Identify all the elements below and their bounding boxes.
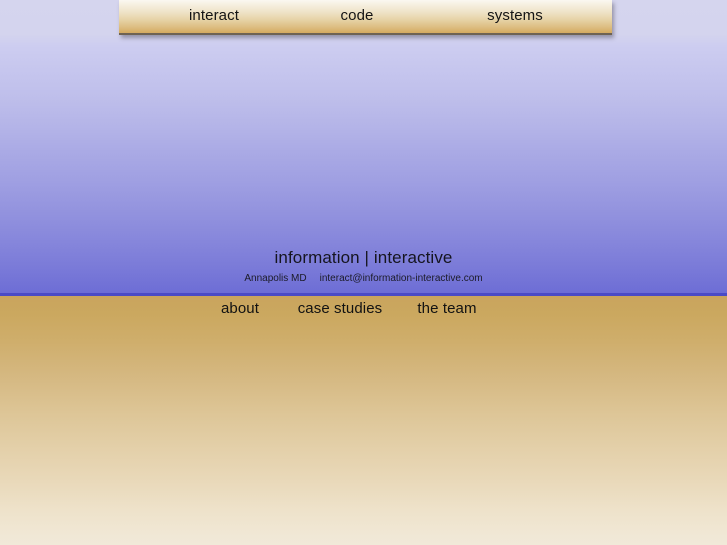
top-nav-bar: interact code systems	[119, 0, 612, 35]
contact-email[interactable]: interact@information-interactive.com	[320, 273, 483, 284]
top-nav-item-code[interactable]: code	[341, 7, 374, 24]
bottom-nav-item-case-studies[interactable]: case studies	[298, 300, 383, 317]
contact-location: Annapolis MD	[244, 273, 306, 284]
top-nav-bar-inner: interact code systems	[119, 0, 612, 33]
page-root: information | interactive Annapolis MDin…	[0, 0, 727, 545]
bottom-nav-item-about[interactable]: about	[221, 300, 259, 317]
branding-block: information | interactive Annapolis MDin…	[0, 247, 727, 285]
bottom-nav-item-the-team[interactable]: the team	[417, 300, 476, 317]
contact-line: Annapolis MDinteract@information-interac…	[0, 272, 727, 285]
bottom-nav: about case studies the team	[0, 300, 727, 324]
site-title: information | interactive	[0, 247, 727, 268]
lower-gradient-panel	[0, 296, 727, 545]
top-nav-item-interact[interactable]: interact	[189, 7, 239, 24]
top-nav-item-systems[interactable]: systems	[487, 7, 543, 24]
